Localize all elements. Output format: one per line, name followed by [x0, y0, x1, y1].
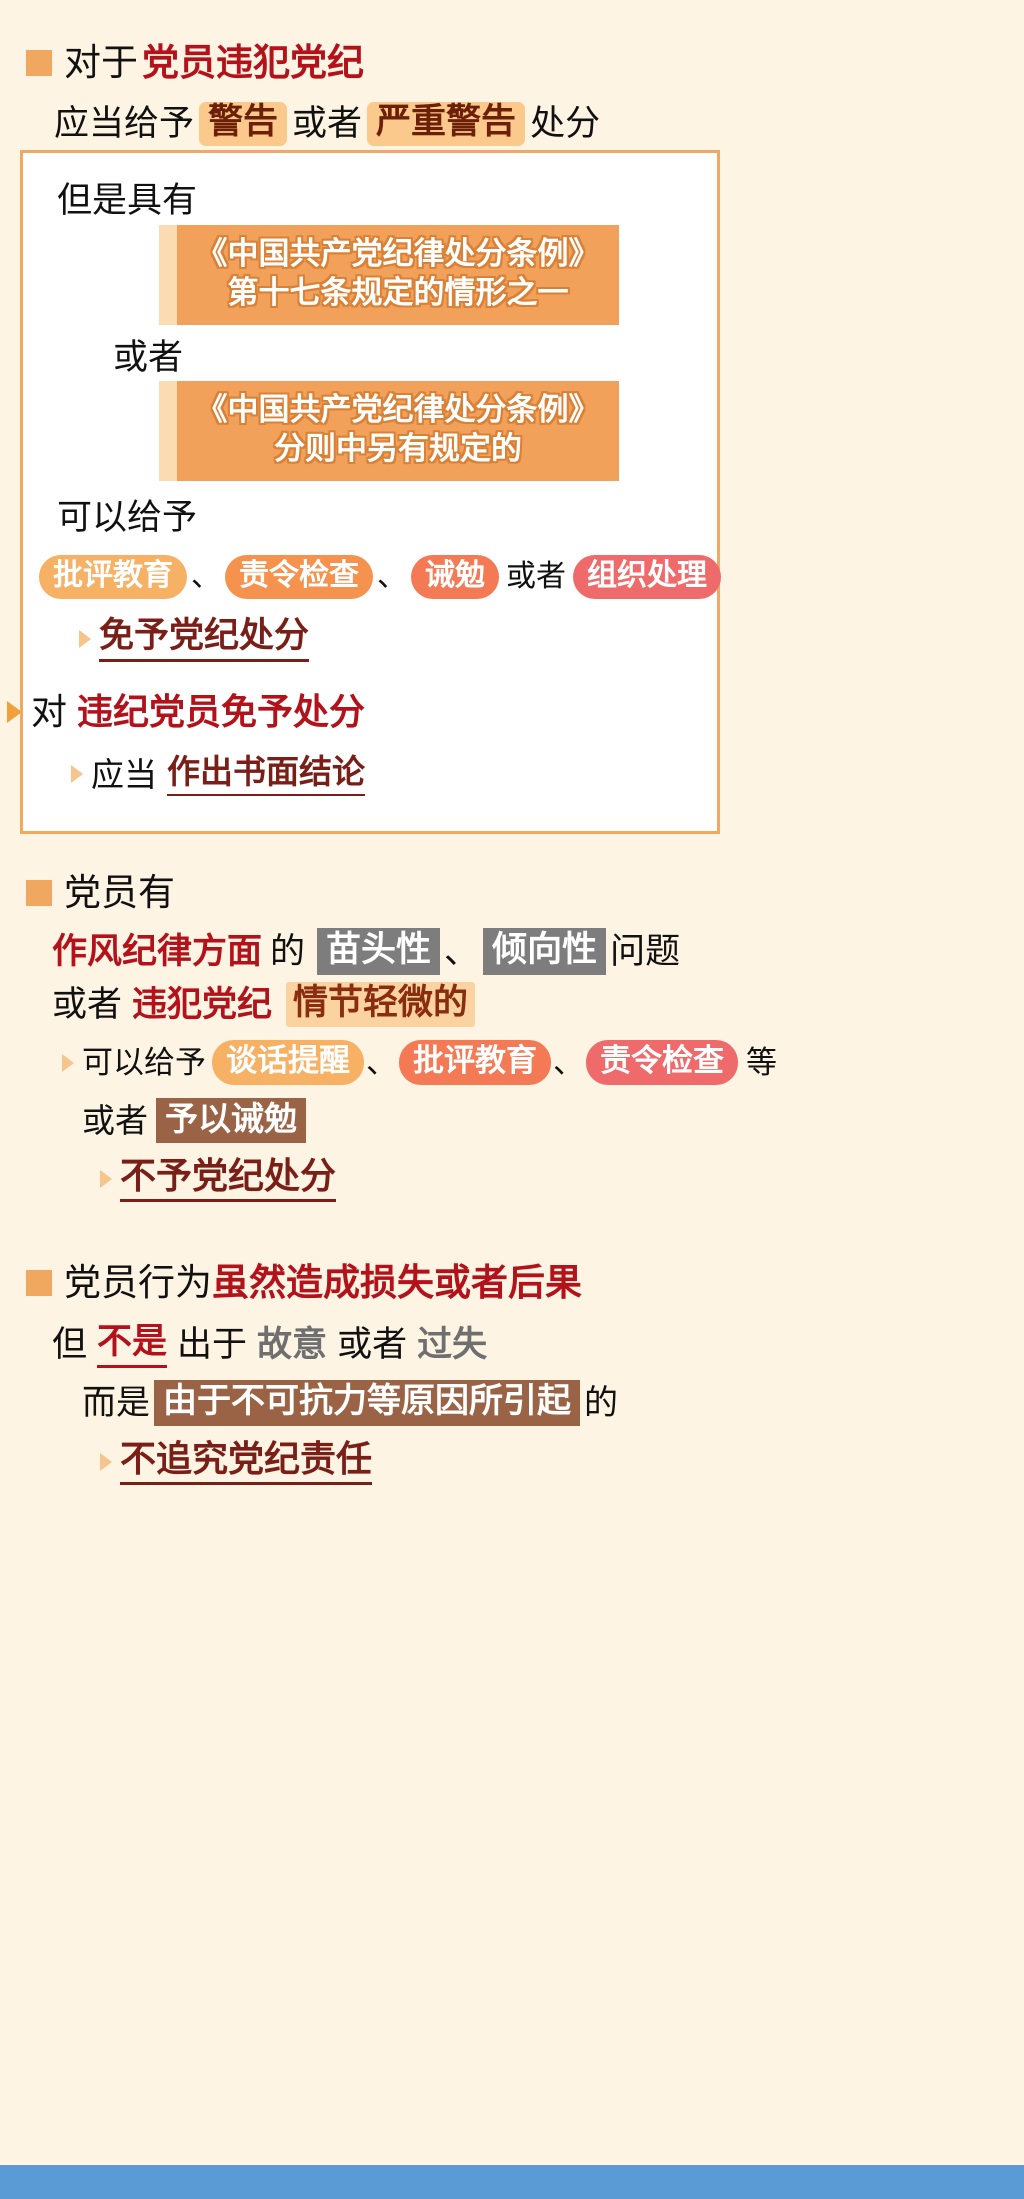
box-connector: 或者 — [113, 338, 183, 378]
tag-tendency: 倾向性 — [483, 928, 606, 975]
section1-heading-emphasis: 党员违犯党纪 — [142, 42, 364, 85]
section2-heading-label: 党员有 — [64, 872, 175, 915]
footer-blue-bar — [0, 2165, 1024, 2199]
section3-line1-negligence: 过失 — [417, 1325, 487, 1365]
tag-incipient: 苗头性 — [317, 928, 440, 975]
section2-line1-c: 问题 — [610, 932, 680, 972]
pill-organizational-handling[interactable]: 组织处理 — [573, 555, 721, 599]
section2-line3: 可以给予 谈话提醒 、 批评教育 、 责令检查 等 — [62, 1040, 777, 1085]
measure-pill-row: 批评教育 、 责令检查 、 诫勉 或者 组织处理 — [37, 555, 723, 599]
tag-minor-circumstances: 情节轻微的 — [286, 982, 475, 1027]
detail-frame-box: 但是具有 《中国共产党纪律处分条例》 第十七条规定的情形之一 或者 《中国共产党… — [20, 150, 720, 834]
orange-square-bullet-icon-2 — [26, 880, 52, 906]
tag-warning: 警告 — [199, 102, 287, 146]
section2-line1-b: 的 — [270, 932, 305, 972]
box-bullet2-sub-emphasis: 作出书面结论 — [167, 753, 365, 796]
section3-heading: 党员行为 虽然造成损失或者后果 — [26, 1262, 582, 1305]
section2-line2-a: 或者 — [52, 985, 122, 1025]
pill-sep-2: 、 — [377, 560, 407, 595]
pill-order-inspection[interactable]: 责令检查 — [225, 555, 373, 599]
pill-order-inspection-2[interactable]: 责令检查 — [586, 1040, 738, 1085]
section3-line1-intentional: 故意 — [257, 1325, 327, 1365]
section1-line2: 应当给予 警告 或者 严重警告 处分 — [54, 102, 600, 146]
tag-serious-warning: 严重警告 — [367, 102, 525, 146]
orange-square-bullet-icon-3 — [26, 1270, 52, 1296]
section3-line1-e: 或者 — [337, 1325, 407, 1365]
regulation-banner-2-line1: 《中国共产党纪律处分条例》 — [193, 391, 603, 430]
pill-or-word: 或者 — [506, 560, 566, 595]
section2-line2-b: 违犯党纪 — [132, 985, 272, 1025]
pill-criticism-education-2[interactable]: 批评教育 — [399, 1040, 551, 1085]
section2-line3-b: 等 — [746, 1045, 777, 1081]
small-arrow-bullet-icon-2 — [71, 765, 83, 783]
section2-line3-sep-2: 、 — [553, 1045, 584, 1081]
pill-sep-1: 、 — [191, 560, 221, 595]
section3-line1-not: 不是 — [97, 1322, 167, 1368]
section2-line1: 作风纪律方面 的 苗头性 、 倾向性 问题 — [52, 928, 680, 975]
small-arrow-bullet-icon-5 — [100, 1453, 112, 1471]
section1-line2-b: 或者 — [292, 104, 362, 144]
box-bullet2-row: 对 违纪党员免予处分 — [7, 691, 365, 732]
tag-force-majeure: 由于不可抗力等原因所引起 — [154, 1380, 580, 1426]
regulation-banner-1-line2: 第十七条规定的情形之一 — [193, 274, 603, 313]
section2-result: 不予党纪处分 — [120, 1155, 336, 1202]
right-background-fill — [740, 0, 1024, 2199]
section1-heading-prefix: 对于 — [64, 42, 138, 85]
section2-line2: 或者 违犯党纪 情节轻微的 — [52, 982, 479, 1027]
regulation-banner-2-line2: 分则中另有规定的 — [193, 430, 603, 469]
box-intro: 但是具有 — [57, 181, 197, 221]
section3-line1-c: 出于 — [177, 1325, 247, 1365]
section3-line3: 不追究党纪责任 — [100, 1438, 372, 1485]
small-arrow-bullet-icon-3 — [62, 1054, 74, 1072]
box-may-give: 可以给予 — [57, 498, 197, 538]
pill-criticism-education[interactable]: 批评教育 — [39, 555, 187, 599]
section2-line3-sep-1: 、 — [366, 1045, 397, 1081]
section3-line1-a: 但 — [52, 1325, 87, 1365]
section2-heading: 党员有 — [26, 872, 175, 915]
section2-line4-a: 或者 — [82, 1102, 148, 1140]
poster-page: 对于 党员违犯党纪 应当给予 警告 或者 严重警告 处分 但是具有 《中国共产党… — [0, 0, 1024, 2199]
pill-talk-reminder[interactable]: 谈话提醒 — [212, 1040, 364, 1085]
poster-column: 对于 党员违犯党纪 应当给予 警告 或者 严重警告 处分 但是具有 《中国共产党… — [0, 0, 740, 2199]
tag-give-admonition: 予以诫勉 — [156, 1098, 306, 1143]
section1-heading: 对于 党员违犯党纪 — [26, 42, 364, 85]
section2-line1-sep: 、 — [444, 932, 479, 972]
section2-line3-a: 可以给予 — [82, 1045, 206, 1081]
section3-line2-b: 的 — [584, 1384, 618, 1423]
regulation-banner-2: 《中国共产党纪律处分条例》 分则中另有规定的 — [159, 381, 619, 481]
arrow-bullet-icon — [7, 701, 22, 723]
small-arrow-bullet-icon — [79, 630, 91, 648]
box-bullet2-sub-row: 应当 作出书面结论 — [71, 753, 365, 796]
section3-result: 不追究党纪责任 — [120, 1438, 372, 1485]
box-result-row: 免予党纪处分 — [79, 616, 309, 662]
regulation-banner-1: 《中国共产党纪律处分条例》 第十七条规定的情形之一 — [159, 225, 619, 325]
small-arrow-bullet-icon-4 — [100, 1170, 112, 1188]
box-result-text: 免予党纪处分 — [99, 616, 309, 662]
box-bullet2-emphasis: 违纪党员免予处分 — [77, 691, 365, 732]
section2-line4: 或者 予以诫勉 — [82, 1098, 310, 1143]
section3-heading-emphasis: 虽然造成损失或者后果 — [212, 1262, 582, 1305]
box-bullet2-prefix: 对 — [31, 691, 67, 732]
box-bullet2-sub-prefix: 应当 — [91, 756, 157, 794]
section3-line2-a: 而是 — [82, 1384, 150, 1423]
section3-heading-prefix: 党员行为 — [64, 1262, 212, 1305]
section2-line5: 不予党纪处分 — [100, 1155, 336, 1202]
section1-line2-c: 处分 — [530, 104, 600, 144]
orange-square-bullet-icon — [26, 50, 52, 76]
section3-line1: 但 不是 出于 故意 或者 过失 — [52, 1322, 487, 1368]
section2-line1-a: 作风纪律方面 — [52, 932, 262, 972]
section3-line2: 而是 由于不可抗力等原因所引起 的 — [82, 1380, 618, 1426]
regulation-banner-1-line1: 《中国共产党纪律处分条例》 — [193, 235, 603, 274]
section1-line2-a: 应当给予 — [54, 104, 194, 144]
pill-admonition[interactable]: 诫勉 — [411, 555, 499, 599]
